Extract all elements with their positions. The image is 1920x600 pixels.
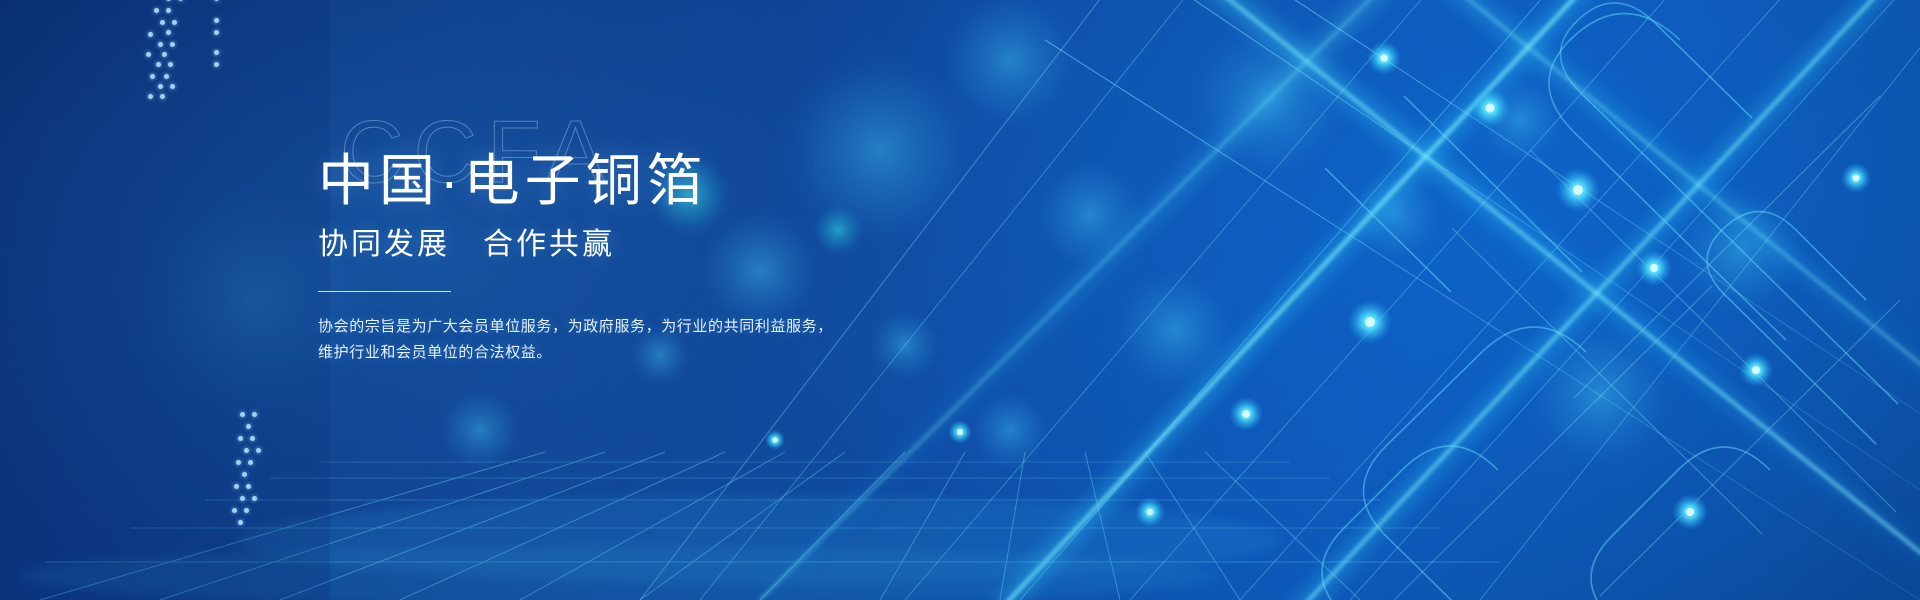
- page-title: 中国·电子铜箔: [318, 150, 1078, 213]
- description-line-2: 维护行业和会员单位的合法权益。: [318, 340, 1078, 366]
- hero-content: CCFA 中国·电子铜箔 协同发展 合作共赢 协会的宗旨是为广大会员单位服务，为…: [318, 108, 1078, 366]
- perspective-grid: [40, 452, 1500, 600]
- page-subtitle: 协同发展 合作共赢: [318, 227, 1078, 263]
- dot-matrix-bottom-left: [232, 412, 292, 532]
- hero-banner: CCFA 中国·电子铜箔 协同发展 合作共赢 协会的宗旨是为广大会员单位服务，为…: [0, 0, 1920, 600]
- dot-matrix-top-left: [140, 0, 250, 106]
- description-line-1: 协会的宗旨是为广大会员单位服务，为政府服务，为行业的共同利益服务，: [318, 314, 1078, 340]
- circuit-traces-fine: [1394, 96, 1900, 600]
- grid-haze: [20, 496, 1280, 600]
- title-divider: [318, 291, 451, 292]
- circuit-traces: [1322, 3, 1898, 600]
